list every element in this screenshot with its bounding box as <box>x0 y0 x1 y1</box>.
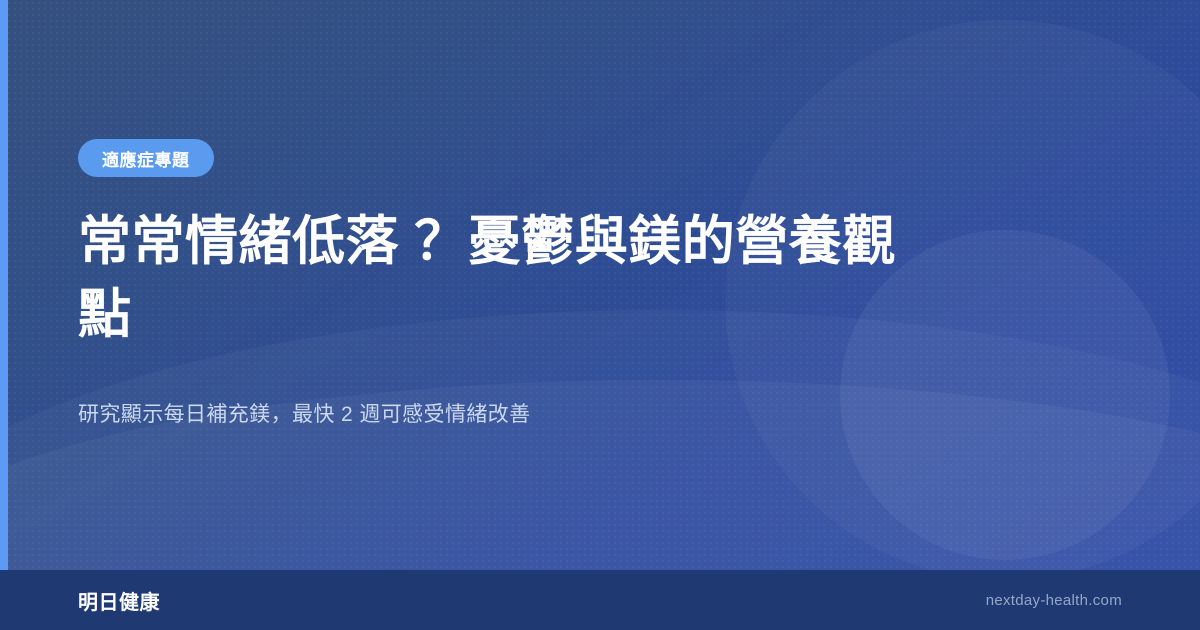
footer-brand-name: 明日健康 <box>78 586 160 615</box>
social-share-card: 適應症專題 常常情緒低落 ？憂鬱與鎂的營養觀點 研究顯示每日補充鎂，最快 2 週… <box>0 0 1200 630</box>
card-footer: 明日健康 nextday-health.com <box>0 570 1200 630</box>
page-subtitle: 研究顯示每日補充鎂，最快 2 週可感受情緒改善 <box>78 399 938 431</box>
footer-domain: nextday-health.com <box>986 592 1122 609</box>
left-accent-bar <box>0 0 8 570</box>
page-title: 常常情緒低落 ？憂鬱與鎂的營養觀點 <box>78 205 908 351</box>
card-content: 適應症專題 常常情緒低落 ？憂鬱與鎂的營養觀點 研究顯示每日補充鎂，最快 2 週… <box>78 0 938 570</box>
category-badge: 適應症專題 <box>78 139 214 177</box>
